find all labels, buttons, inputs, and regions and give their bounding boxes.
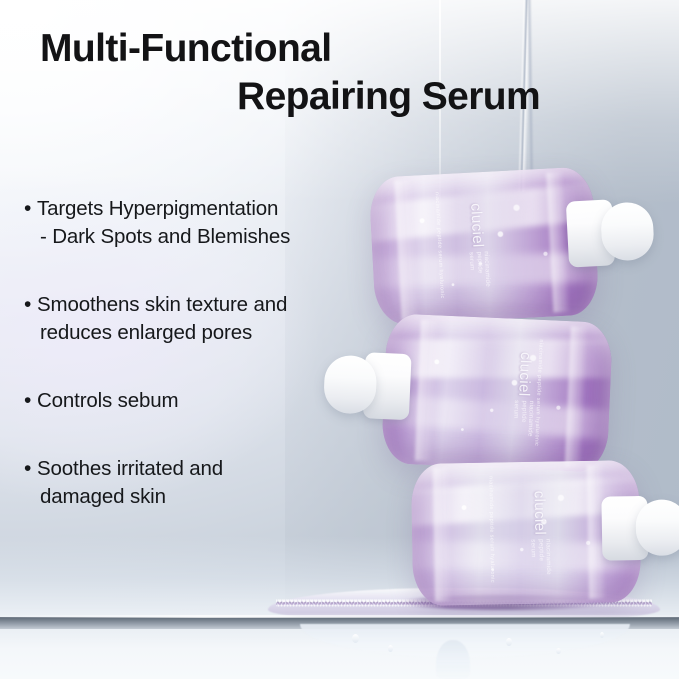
bullet-icon: • (24, 455, 37, 483)
benefit-text: Soothes irritated and damaged skin (37, 455, 223, 511)
serum-droplet (600, 632, 604, 638)
bottle-label: cluciel niacinamide peptide serum (465, 203, 492, 293)
brand-name: cluciel (468, 203, 487, 248)
product-bottle-top: niacinamide peptide serum hyaluronic clu… (368, 166, 599, 326)
dropper-cap-bottom (601, 495, 679, 561)
list-item: • Targets Hyperpigmentation - Dark Spots… (24, 195, 394, 251)
serum-droplet (556, 648, 561, 654)
bottle-label: cluciel niacinamide peptide serum (511, 352, 537, 441)
shelf-highlight (0, 615, 679, 618)
serum-droplet (352, 634, 359, 643)
benefit-text: Smoothens skin texture and reduces enlar… (37, 291, 287, 347)
benefit-text: Controls sebum (37, 387, 178, 415)
product-marketing-image: Multi-Functional Repairing Serum • Targe… (0, 0, 679, 679)
benefits-list: • Targets Hyperpigmentation - Dark Spots… (24, 195, 394, 551)
bullet-icon: • (24, 195, 37, 223)
product-descriptor: niacinamide peptide serum (529, 539, 552, 579)
list-item: • Soothes irritated and damaged skin (24, 455, 394, 511)
list-item: • Smoothens skin texture and reduces enl… (24, 291, 394, 347)
benefit-line-2: damaged skin (37, 483, 223, 511)
brand-name: cluciel (516, 352, 535, 397)
product-descriptor: niacinamide peptide serum (467, 251, 491, 292)
dropper-cap-top (566, 197, 655, 267)
bullet-icon: • (24, 387, 37, 415)
benefit-line-1: Targets Hyperpigmentation (37, 197, 278, 220)
benefit-line-1: Soothes irritated and (37, 457, 223, 480)
cap-bulb (600, 201, 655, 262)
serum-droplet (506, 638, 512, 646)
serum-droplet (388, 645, 393, 652)
product-bottle-middle: niacinamide peptide serum hyaluronic clu… (381, 313, 613, 473)
bullet-icon: • (24, 291, 37, 319)
list-item: • Controls sebum (24, 387, 394, 415)
benefit-line-2: reduces enlarged pores (37, 319, 287, 347)
bottle-ring-left (433, 468, 451, 602)
product-bottle-bottom: niacinamide peptide serum hyaluronic clu… (411, 460, 641, 606)
brand-name: cluciel (531, 490, 549, 535)
benefit-line-2: - Dark Spots and Blemishes (37, 223, 290, 251)
benefit-text: Targets Hyperpigmentation - Dark Spots a… (37, 195, 290, 251)
bottle-label: cluciel niacinamide peptide serum (528, 490, 552, 579)
serum-drip-stem (436, 640, 470, 679)
product-descriptor: niacinamide peptide serum (511, 400, 535, 441)
benefit-line-1: Controls sebum (37, 389, 178, 412)
benefit-line-1: Smoothens skin texture and (37, 293, 287, 316)
